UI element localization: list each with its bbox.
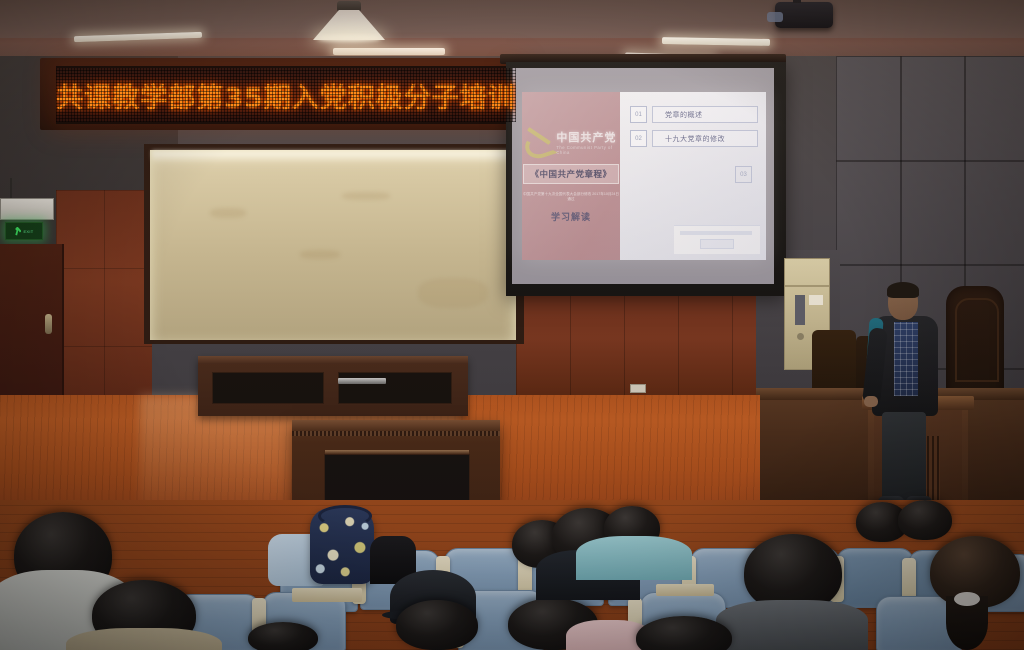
exit-sign-label: EXIT xyxy=(23,229,33,234)
lecture-hall-photo: 公共课教学部第35期入党积极分子培训班 EXIT 中国共产党 xyxy=(0,0,1024,650)
exit-sign: EXIT xyxy=(5,222,43,240)
slide-org-name-cn: 中国共产党 xyxy=(556,129,620,145)
slide-footer-block xyxy=(674,225,760,254)
audience-head xyxy=(248,622,318,650)
cabinet-knob[interactable] xyxy=(797,333,804,340)
wiring xyxy=(10,178,12,200)
led-scrolling-banner: 公共课教学部第35期入党积极分子培训班 xyxy=(56,66,516,124)
seat-tablet-desk[interactable] xyxy=(292,588,362,602)
ceiling-tube-light-2 xyxy=(333,48,445,55)
led-banner-text: 公共课教学部第35期入党积极分子培训班 xyxy=(56,76,516,115)
speaker-hand xyxy=(864,396,878,407)
wall-socket xyxy=(630,384,646,393)
door-handle[interactable] xyxy=(45,314,52,334)
slide-subtitle: 学习解读 xyxy=(551,210,591,223)
speaker-person xyxy=(872,284,938,516)
cone-pendant-light xyxy=(313,10,385,40)
hammer-and-sickle-icon xyxy=(522,131,552,153)
pendant-glow xyxy=(317,35,381,42)
stage-backdrop-panel xyxy=(150,150,516,340)
slide-menu-item: 01 党章的概述 xyxy=(630,106,758,123)
slide-menu-item: 02 十九大党章的修改 xyxy=(630,130,758,147)
slide-adoption-note: 中国共产党第十九次全国代表大会部分修改 2017年10月24日通过 xyxy=(522,192,620,203)
slide-right-panel: 01 党章的概述 02 十九大党章的修改 03 xyxy=(620,92,766,260)
speaker-legs xyxy=(882,412,926,500)
slide-org-name-en: The Communist Party of China xyxy=(556,145,620,155)
side-door[interactable] xyxy=(0,244,64,420)
audience-head xyxy=(898,500,952,540)
electrical-box xyxy=(0,198,54,220)
head-table xyxy=(198,356,468,416)
slide-document-title: 《中国共产党章程》 xyxy=(523,164,618,184)
seat-tablet-desk[interactable] xyxy=(656,584,714,596)
presentation-slide: 中国共产党 The Communist Party of China 《中国共产… xyxy=(522,92,766,260)
floral-backpack xyxy=(310,508,374,584)
slide-left-panel: 中国共产党 The Communist Party of China 《中国共产… xyxy=(522,92,620,260)
backdrop-top-light xyxy=(152,151,514,163)
slide-menu-number: 01 xyxy=(630,106,647,123)
audience-shoulders xyxy=(66,628,222,650)
slide-menu-number-extra: 03 xyxy=(735,166,752,183)
slide-org-identity: 中国共产党 The Communist Party of China xyxy=(522,129,620,155)
ceiling xyxy=(0,0,1024,62)
ceiling-projector xyxy=(775,2,833,28)
hair-scrunchie xyxy=(954,592,980,606)
slide-menu-label: 十九大党章的修改 xyxy=(652,130,758,147)
audience-head xyxy=(396,600,478,650)
running-man-icon xyxy=(14,227,21,236)
cabinet-display xyxy=(795,295,805,325)
slide-menu-number: 02 xyxy=(630,130,647,147)
slide-menu-label: 党章的概述 xyxy=(652,106,758,123)
speaker-hair xyxy=(887,282,919,298)
audience-shoulders xyxy=(576,536,692,580)
audience-shoulders xyxy=(716,600,868,650)
speaker-plaid-shirt xyxy=(894,322,918,396)
wood-wall-left xyxy=(56,190,152,420)
